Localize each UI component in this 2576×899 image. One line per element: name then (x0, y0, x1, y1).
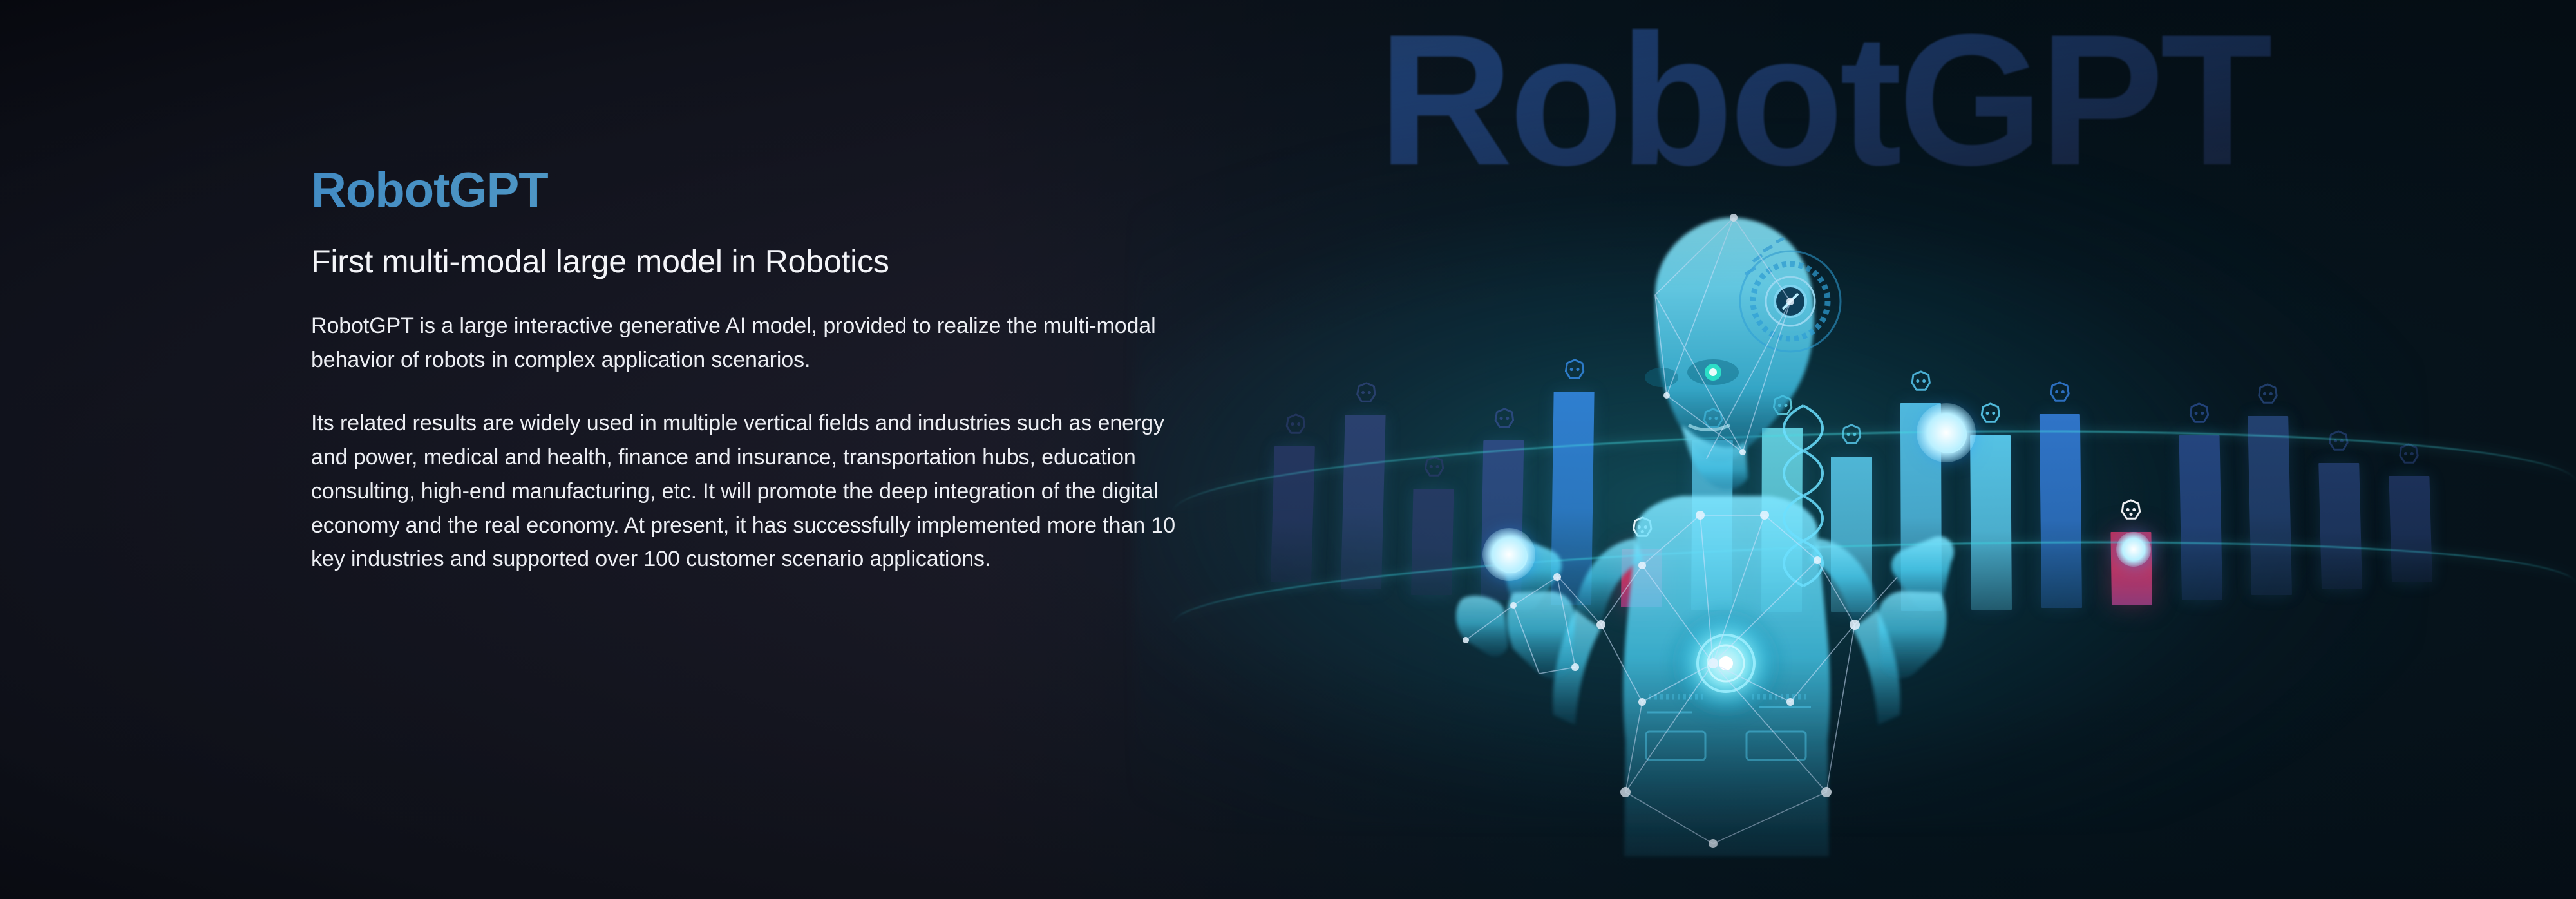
robot-head-icon (2255, 382, 2280, 407)
watermark-title: RobotGPT (1378, 6, 2271, 193)
hero-copy: RobotGPT First multi-modal large model i… (311, 164, 1213, 576)
robot-right-hand (1878, 536, 1954, 679)
robot-head-icon (1282, 412, 1308, 437)
hero-paragraph-1: RobotGPT is a large interactive generati… (311, 309, 1206, 377)
pulse-core-right (1917, 403, 1976, 462)
robot-head-icon (1353, 381, 1379, 406)
pulse-core-bottom (2116, 532, 2151, 567)
hero-banner: RobotGPT (0, 0, 2576, 899)
robot-head-icon (2186, 401, 2211, 426)
pulse-core-left (1482, 528, 1535, 581)
hero-tagline: First multi-modal large model in Robotic… (311, 243, 1213, 281)
bar-item (1271, 446, 1315, 582)
robot-head-icon (2047, 380, 2072, 405)
robot-head-icon (2117, 498, 2143, 523)
page-title: RobotGPT (311, 164, 1213, 217)
bar (1271, 446, 1315, 582)
hero-paragraph-2: Its related results are widely used in m… (311, 406, 1206, 576)
